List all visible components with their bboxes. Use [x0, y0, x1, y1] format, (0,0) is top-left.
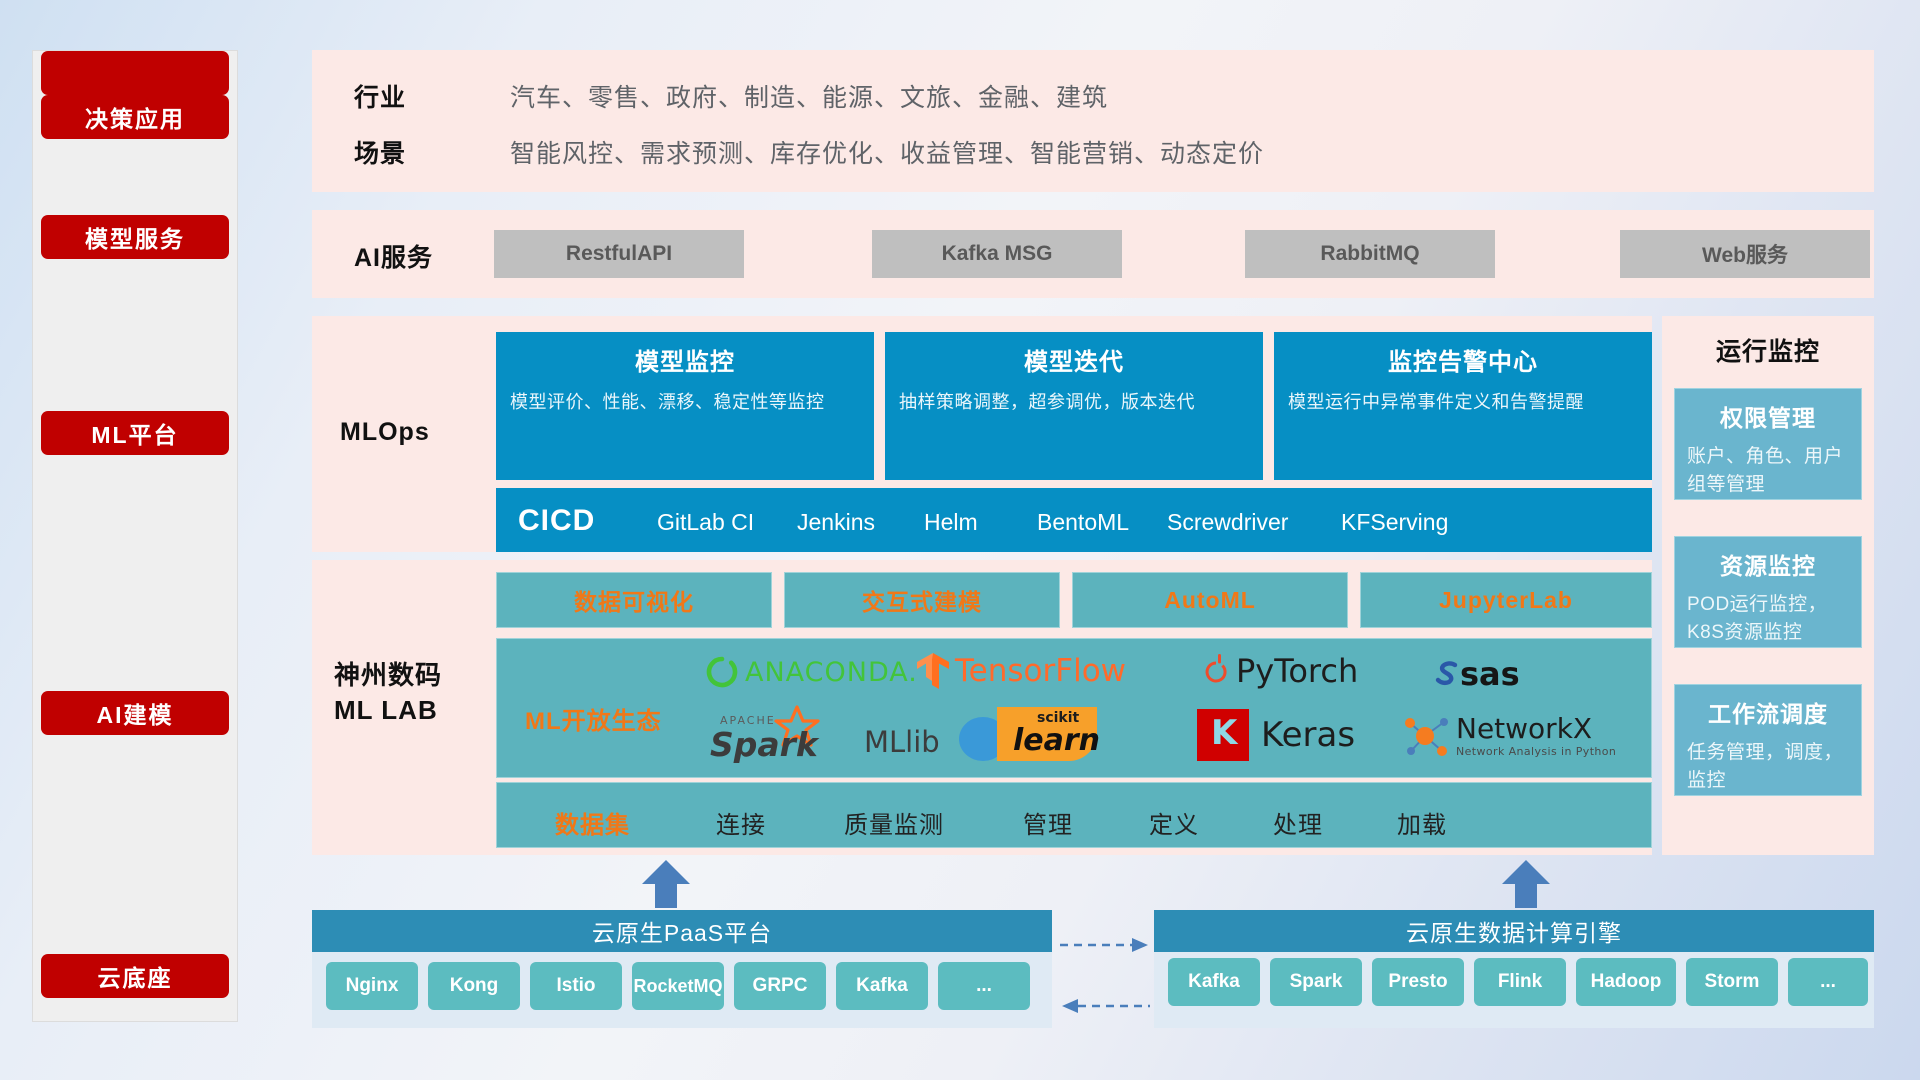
- cicd-item-screwdriver[interactable]: Screwdriver: [1167, 508, 1302, 537]
- dataset-item-process[interactable]: 处理: [1273, 805, 1323, 840]
- dataset-item-quality[interactable]: 质量监测: [844, 805, 944, 840]
- ai-service-label: AI服务: [354, 238, 433, 274]
- rail-label: ML平台: [91, 416, 178, 450]
- ml-lab-title-line2: ML LAB: [334, 693, 442, 728]
- paas-chip-kong[interactable]: Kong: [428, 962, 520, 1010]
- architecture-diagram: 决策应用 模型服务 ML平台 AI建模 云底座 行业 汽车、零售、政府、制造、能…: [0, 0, 1920, 1080]
- dataset-item-connect[interactable]: 连接: [716, 805, 766, 840]
- card-title: 模型迭代: [899, 342, 1249, 377]
- rail-label: 云底座: [98, 959, 173, 993]
- networkx-logo: NetworkX Network Analysis in Python: [1402, 713, 1616, 759]
- cicd-title: CICD: [518, 504, 595, 538]
- cicd-item-helm[interactable]: Helm: [924, 508, 1034, 537]
- mlops-card-model-iteration[interactable]: 模型迭代 抽样策略调整，超参调优，版本迭代: [885, 332, 1263, 480]
- mlops-card-alert-center[interactable]: 监控告警中心 模型运行中异常事件定义和告警提醒: [1274, 332, 1652, 480]
- cicd-item-gitlab-ci[interactable]: GitLab CI: [657, 508, 767, 537]
- card-title: 工作流调度: [1687, 695, 1849, 729]
- chip-label: Nginx: [346, 975, 399, 997]
- lab-tab-jupyterlab[interactable]: JupyterLab: [1360, 572, 1652, 628]
- keras-logo: K Keras: [1197, 709, 1355, 761]
- engine-chip-flink[interactable]: Flink: [1474, 958, 1566, 1006]
- runtime-monitoring-title: 运行监控: [1662, 332, 1874, 368]
- flow-arrow-right: [1060, 935, 1150, 955]
- tensorflow-logo: TensorFlow: [915, 651, 1126, 691]
- monitor-card-resource[interactable]: 资源监控 POD运行监控，K8S资源监控: [1674, 536, 1862, 648]
- service-chip-web[interactable]: Web服务: [1620, 230, 1870, 278]
- ml-platform-band: MLOps 模型监控 模型评价、性能、漂移、稳定性等监控 模型迭代 抽样策略调整…: [312, 316, 1652, 552]
- engine-chip-presto[interactable]: Presto: [1372, 958, 1464, 1006]
- card-desc: 模型评价、性能、漂移、稳定性等监控: [510, 389, 860, 415]
- rail-item-ai-modeling[interactable]: AI建模: [41, 691, 229, 735]
- tab-label: 数据可视化: [574, 583, 694, 617]
- pytorch-wordmark: PyTorch: [1236, 652, 1358, 690]
- dataset-item-manage[interactable]: 管理: [1023, 805, 1073, 840]
- up-arrow-data-engine: [1500, 858, 1552, 910]
- lab-tab-interactive-modeling[interactable]: 交互式建模: [784, 572, 1060, 628]
- layer-rail: 决策应用 模型服务 ML平台 AI建模 云底座: [32, 50, 238, 1022]
- tab-label: AutoML: [1164, 587, 1256, 614]
- networkx-wordmark: NetworkX: [1456, 715, 1616, 743]
- rail-item-ml-platform[interactable]: ML平台: [41, 411, 229, 455]
- paas-chip-istio[interactable]: Istio: [530, 962, 622, 1010]
- chip-label: Kafka: [856, 975, 908, 997]
- cicd-item-jenkins[interactable]: Jenkins: [797, 508, 907, 537]
- monitor-card-permission[interactable]: 权限管理 账户、角色、用户组等管理: [1674, 388, 1862, 500]
- chip-label: GRPC: [753, 975, 808, 997]
- paas-chip-kafka[interactable]: Kafka: [836, 962, 928, 1010]
- ai-modeling-band: 神州数码 ML LAB 数据可视化 交互式建模 AutoML JupyterLa…: [312, 560, 1652, 855]
- chip-label: Presto: [1388, 971, 1447, 993]
- dataset-item-load[interactable]: 加载: [1397, 805, 1447, 840]
- scenario-list: 智能风控、需求预测、库存优化、收益管理、智能营销、动态定价: [510, 134, 1264, 170]
- tensorflow-wordmark: TensorFlow: [955, 653, 1126, 689]
- model-service-band: AI服务 RestfulAPI Kafka MSG RabbitMQ Web服务: [312, 210, 1874, 298]
- scenario-label: 场景: [354, 134, 406, 170]
- service-chip-kafka-msg[interactable]: Kafka MSG: [872, 230, 1122, 278]
- mlops-label: MLOps: [340, 418, 430, 447]
- rail-label: 模型服务: [85, 220, 185, 254]
- rail-item-model-service[interactable]: 模型服务: [41, 215, 229, 259]
- decision-application-band: 行业 汽车、零售、政府、制造、能源、文旅、金融、建筑 场景 智能风控、需求预测、…: [312, 50, 1874, 192]
- paas-chip-grpc[interactable]: GRPC: [734, 962, 826, 1010]
- card-desc: 账户、角色、用户组等管理: [1687, 443, 1849, 498]
- cicd-bar: CICD GitLab CI Jenkins Helm BentoML Scre…: [496, 488, 1652, 552]
- ml-open-ecosystem-box: ML开放生态 ANACONDA. TensorFlow: [496, 638, 1652, 778]
- chip-label: Kafka: [1188, 971, 1240, 993]
- learn-text: learn: [1013, 723, 1100, 758]
- chip-label: RestfulAPI: [566, 242, 672, 266]
- pytorch-logo: PyTorch: [1202, 652, 1358, 690]
- scikit-learn-logo: scikit learn: [957, 705, 1101, 768]
- sas-wordmark: sas: [1460, 655, 1520, 693]
- card-desc: POD运行监控，K8S资源监控: [1687, 591, 1849, 646]
- paas-chip-rocketmq[interactable]: RocketMQ: [632, 962, 724, 1010]
- chip-label: RocketMQ: [634, 976, 723, 997]
- anaconda-wordmark: ANACONDA.: [745, 657, 918, 688]
- up-arrow-paas: [640, 858, 692, 910]
- sas-logo: sas: [1432, 655, 1520, 693]
- card-title: 模型监控: [510, 342, 860, 377]
- paas-platform-title: 云原生PaaS平台: [592, 914, 772, 948]
- keras-mark-letter: K: [1211, 713, 1237, 753]
- paas-platform-header: 云原生PaaS平台: [312, 910, 1052, 952]
- ml-lab-title: 神州数码 ML LAB: [334, 658, 442, 728]
- lab-tab-data-visualization[interactable]: 数据可视化: [496, 572, 772, 628]
- anaconda-logo: ANACONDA.: [705, 655, 918, 689]
- paas-chip-nginx[interactable]: Nginx: [326, 962, 418, 1010]
- paas-chip-more[interactable]: ...: [938, 962, 1030, 1010]
- runtime-monitoring-panel: 运行监控 权限管理 账户、角色、用户组等管理 资源监控 POD运行监控，K8S资…: [1662, 316, 1874, 855]
- industry-list: 汽车、零售、政府、制造、能源、文旅、金融、建筑: [510, 78, 1108, 114]
- networkx-tagline: Network Analysis in Python: [1456, 745, 1616, 758]
- chip-label: Kafka MSG: [942, 242, 1053, 266]
- rail-item-cloud-foundation[interactable]: 云底座: [41, 954, 229, 998]
- service-chip-restfulapi[interactable]: RestfulAPI: [494, 230, 744, 278]
- ml-open-ecosystem-label: ML开放生态: [525, 701, 662, 736]
- card-title: 监控告警中心: [1288, 342, 1638, 377]
- dataset-item-define[interactable]: 定义: [1149, 805, 1199, 840]
- spark-wordmark: Spark: [710, 725, 818, 764]
- chip-label: ...: [1820, 971, 1836, 993]
- rail-item-ml-platform-spacer: [41, 51, 229, 95]
- lab-tab-automl[interactable]: AutoML: [1072, 572, 1348, 628]
- card-desc: 任务管理，调度，监控: [1687, 739, 1849, 794]
- service-chip-rabbitmq[interactable]: RabbitMQ: [1245, 230, 1495, 278]
- dataset-label: 数据集: [555, 805, 630, 840]
- cicd-item-kfserving[interactable]: KFServing: [1341, 508, 1466, 537]
- industry-label: 行业: [354, 78, 406, 114]
- tab-label: 交互式建模: [862, 583, 982, 617]
- chip-label: Hadoop: [1591, 971, 1662, 993]
- chip-label: Spark: [1290, 971, 1343, 993]
- chip-label: ...: [976, 975, 992, 997]
- engine-chip-spark[interactable]: Spark: [1270, 958, 1362, 1006]
- data-engine-header: 云原生数据计算引擎: [1154, 910, 1874, 952]
- card-title: 资源监控: [1687, 547, 1849, 581]
- rail-item-decision-application[interactable]: 决策应用: [41, 95, 229, 139]
- rail-label: AI建模: [97, 696, 174, 730]
- keras-wordmark: Keras: [1261, 715, 1355, 755]
- chip-label: Web服务: [1702, 239, 1788, 269]
- chip-label: Istio: [556, 975, 595, 997]
- spark-mllib-logo: APACHE Spark MLlib: [702, 711, 940, 763]
- card-desc: 抽样策略调整，超参调优，版本迭代: [899, 389, 1249, 415]
- data-engine-title: 云原生数据计算引擎: [1406, 914, 1622, 948]
- card-title: 权限管理: [1687, 399, 1849, 433]
- mlops-card-model-monitor[interactable]: 模型监控 模型评价、性能、漂移、稳定性等监控: [496, 332, 874, 480]
- rail-label: 决策应用: [85, 100, 185, 134]
- engine-chip-hadoop[interactable]: Hadoop: [1576, 958, 1676, 1006]
- chip-label: Flink: [1498, 971, 1542, 993]
- engine-chip-storm[interactable]: Storm: [1686, 958, 1778, 1006]
- chip-label: Storm: [1705, 971, 1760, 993]
- dataset-box: 数据集 连接 质量监测 管理 定义 处理 加载: [496, 782, 1652, 848]
- flow-arrow-left: [1060, 996, 1150, 1016]
- cicd-item-bentoml[interactable]: BentoML: [1037, 508, 1147, 537]
- tab-label: JupyterLab: [1439, 587, 1573, 614]
- chip-label: Kong: [450, 975, 499, 997]
- mllib-wordmark: MLlib: [864, 725, 940, 759]
- monitor-card-workflow[interactable]: 工作流调度 任务管理，调度，监控: [1674, 684, 1862, 796]
- engine-chip-more[interactable]: ...: [1788, 958, 1868, 1006]
- chip-label: RabbitMQ: [1320, 242, 1419, 266]
- ml-lab-title-line1: 神州数码: [334, 658, 442, 693]
- engine-chip-kafka[interactable]: Kafka: [1168, 958, 1260, 1006]
- card-desc: 模型运行中异常事件定义和告警提醒: [1288, 389, 1638, 415]
